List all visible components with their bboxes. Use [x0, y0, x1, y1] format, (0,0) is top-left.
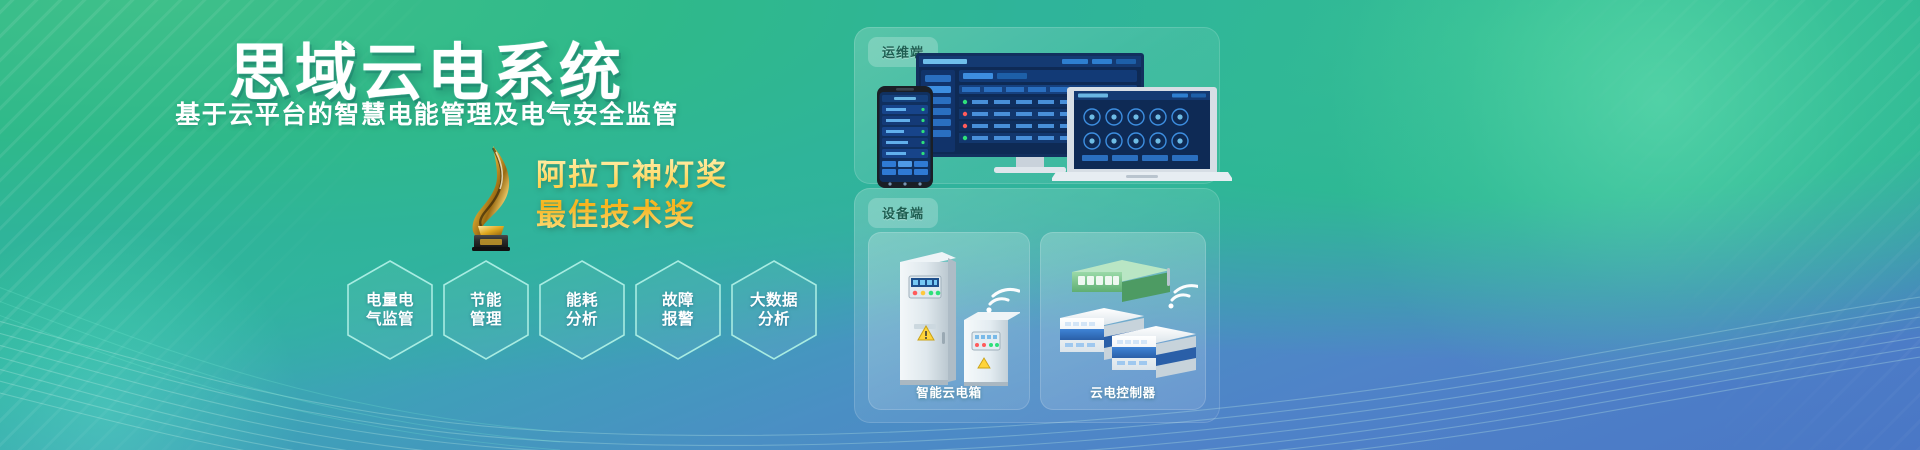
- feature-badge-list: 电量电气监管 节能管理 能耗分析 故障报警: [0, 258, 854, 368]
- award-text: 阿拉丁神灯奖 最佳技术奖: [536, 156, 728, 235]
- feature-badge-4[interactable]: 大数据分析: [728, 258, 820, 362]
- left-content: 思域云电系统 基于云平台的智慧电能管理及电气安全监管: [0, 0, 854, 450]
- feature-badge-label: 电量电气监管: [366, 291, 414, 330]
- right-content: 运维端: [854, 0, 1920, 450]
- feature-badge-2[interactable]: 能耗分析: [536, 258, 628, 362]
- mobile-phone-screenshot: [876, 85, 934, 189]
- award-line-2: 最佳技术奖: [536, 196, 728, 236]
- feature-badge-0[interactable]: 电量电气监管: [344, 258, 436, 362]
- feature-badge-label: 节能管理: [470, 291, 502, 330]
- feature-badge-label: 能耗分析: [566, 291, 598, 330]
- device-terminal-tag: 设备端: [868, 198, 938, 228]
- promo-banner: 思域云电系统 基于云平台的智慧电能管理及电气安全监管: [0, 0, 1920, 450]
- award-line-1: 阿拉丁神灯奖: [536, 156, 728, 196]
- feature-badge-label: 故障报警: [662, 291, 694, 330]
- device-terminal-panel: 设备端: [854, 188, 1220, 423]
- device-card-cloud-controller[interactable]: 云电控制器: [1040, 232, 1206, 410]
- award-row: 阿拉丁神灯奖 最佳技术奖: [0, 142, 854, 254]
- device-card-cloud-box[interactable]: 智能云电箱: [868, 232, 1030, 410]
- feature-badge-label: 大数据分析: [750, 291, 798, 330]
- gold-trophy-icon: [452, 142, 530, 252]
- cloud-controller-icon: [1048, 250, 1198, 396]
- feature-badge-3[interactable]: 故障报警: [632, 258, 724, 362]
- device-caption: 智能云电箱: [868, 382, 1030, 401]
- electrical-cabinet-icon: [878, 246, 1020, 396]
- device-caption: 云电控制器: [1040, 382, 1206, 401]
- feature-badge-1[interactable]: 节能管理: [440, 258, 532, 362]
- laptop-screenshot: [1052, 85, 1232, 189]
- ops-terminal-panel: 运维端: [854, 27, 1220, 184]
- page-subtitle: 基于云平台的智慧电能管理及电气安全监管: [0, 95, 854, 131]
